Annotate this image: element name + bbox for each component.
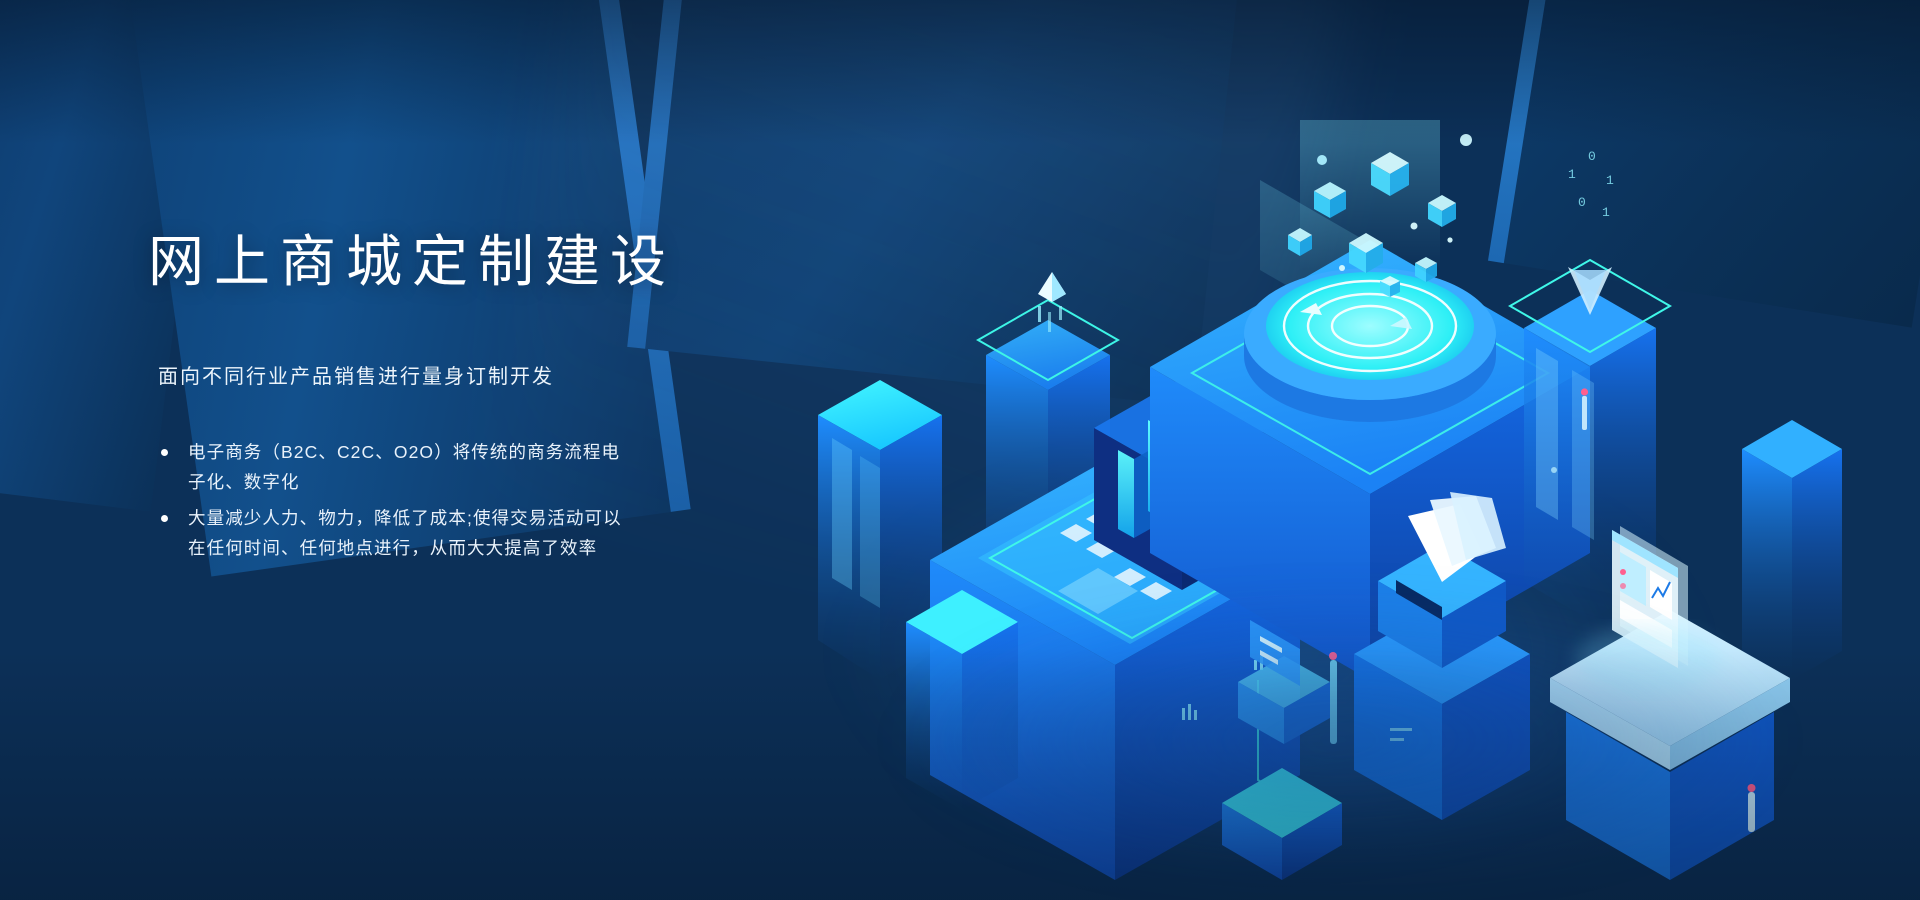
list-item-text: 大量减少人力、物力，降低了成本;使得交易活动可以在任何时间、任何地点进行，从而大… [188, 508, 622, 558]
list-item-text: 电子商务（B2C、C2C、O2O）将传统的商务流程电子化、数字化 [188, 442, 620, 492]
svg-text:0: 0 [1578, 195, 1586, 210]
page-title: 网上商城定制建设 [148, 232, 788, 292]
isometric-illustration: 10 10 1 [830, 120, 1920, 880]
feature-list: 电子商务（B2C、C2C、O2O）将传统的商务流程电子化、数字化 大量减少人力、… [158, 437, 788, 563]
svg-text:1: 1 [1568, 167, 1576, 182]
list-item: 大量减少人力、物力，降低了成本;使得交易活动可以在任何时间、任何地点进行，从而大… [158, 503, 628, 563]
hero-banner: 网上商城定制建设 面向不同行业产品销售进行量身订制开发 电子商务（B2C、C2C… [0, 0, 1920, 900]
svg-text:0: 0 [1588, 149, 1596, 164]
svg-text:1: 1 [1606, 173, 1614, 188]
list-item: 电子商务（B2C、C2C、O2O）将传统的商务流程电子化、数字化 [158, 437, 628, 497]
svg-text:1: 1 [1602, 205, 1610, 220]
bullet-dot-icon [161, 449, 168, 456]
hero-copy: 网上商城定制建设 面向不同行业产品销售进行量身订制开发 电子商务（B2C、C2C… [148, 232, 788, 569]
bullet-dot-icon [161, 515, 168, 522]
illustration-glow [890, 590, 1790, 890]
page-subtitle: 面向不同行业产品销售进行量身订制开发 [158, 360, 788, 389]
